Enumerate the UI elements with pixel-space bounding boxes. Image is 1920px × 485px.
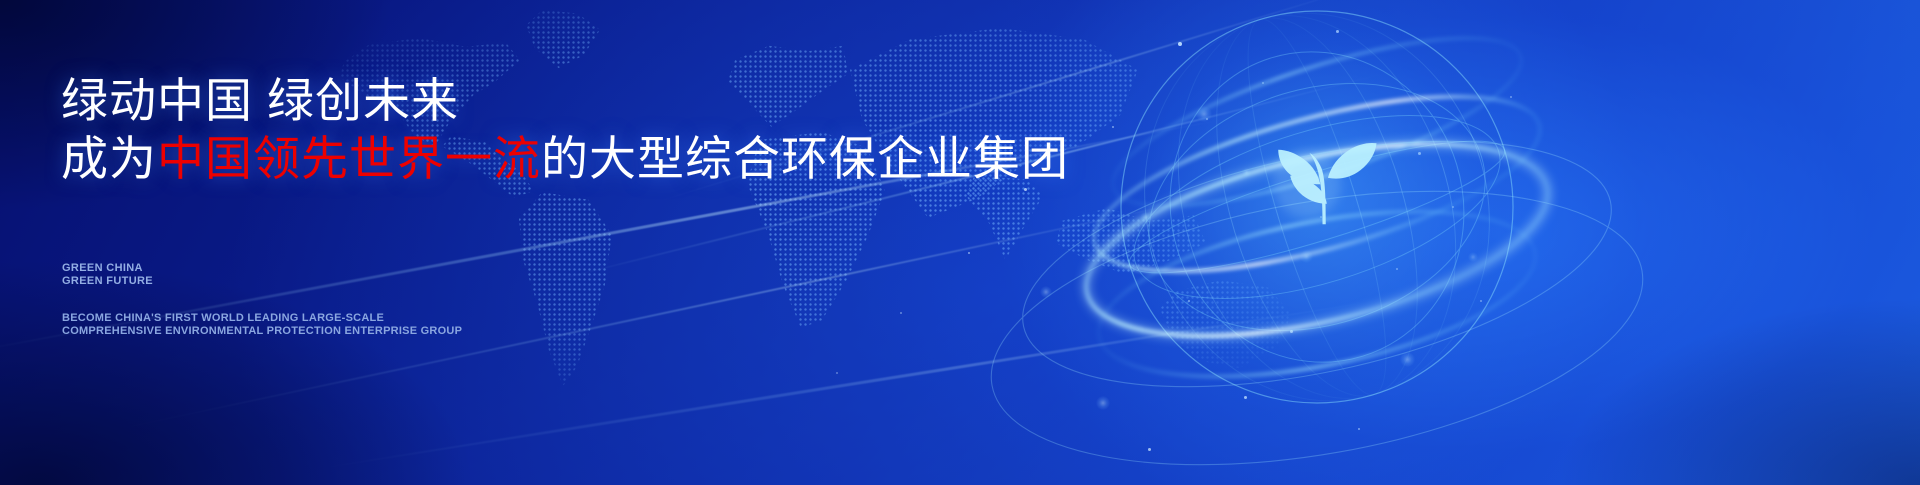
particle bbox=[1024, 188, 1027, 191]
tagline-english-line-2: COMPREHENSIVE ENVIRONMENTAL PROTECTION E… bbox=[62, 325, 462, 338]
particle bbox=[968, 252, 970, 254]
headline-line-2: 成为中国领先世界一流的大型综合环保企业集团 bbox=[61, 130, 1069, 188]
particle bbox=[900, 312, 902, 314]
headline-line-2-highlight: 中国领先世界一流 bbox=[157, 132, 541, 185]
headline-line-1: 绿动中国 绿创未来 bbox=[61, 74, 459, 127]
map-region-india bbox=[966, 176, 1048, 260]
page-title: 绿动中国 绿创未来 成为中国领先世界一流的大型综合环保企业集团 bbox=[61, 72, 1069, 188]
map-region-south-america bbox=[512, 192, 628, 386]
slogan-english-line-1: GREEN CHINA bbox=[62, 262, 153, 275]
particle bbox=[836, 372, 838, 374]
map-region-greenland bbox=[526, 10, 600, 68]
tagline-english: BECOME CHINA'S FIRST WORLD LEADING LARGE… bbox=[62, 312, 462, 338]
particle bbox=[1148, 448, 1151, 451]
headline-line-2-suffix: 的大型综合环保企业集团 bbox=[541, 132, 1069, 185]
headline-line-2-prefix: 成为 bbox=[61, 132, 157, 185]
bokeh-particle bbox=[1040, 286, 1052, 298]
tagline-english-line-1: BECOME CHINA'S FIRST WORLD LEADING LARGE… bbox=[62, 312, 462, 325]
slogan-english: GREEN CHINA GREEN FUTURE bbox=[62, 262, 153, 288]
slogan-english-line-2: GREEN FUTURE bbox=[62, 275, 153, 288]
hero-banner: 绿动中国 绿创未来 成为中国领先世界一流的大型综合环保企业集团 GREEN CH… bbox=[0, 0, 1920, 485]
wireframe-globe bbox=[1082, 0, 1552, 442]
